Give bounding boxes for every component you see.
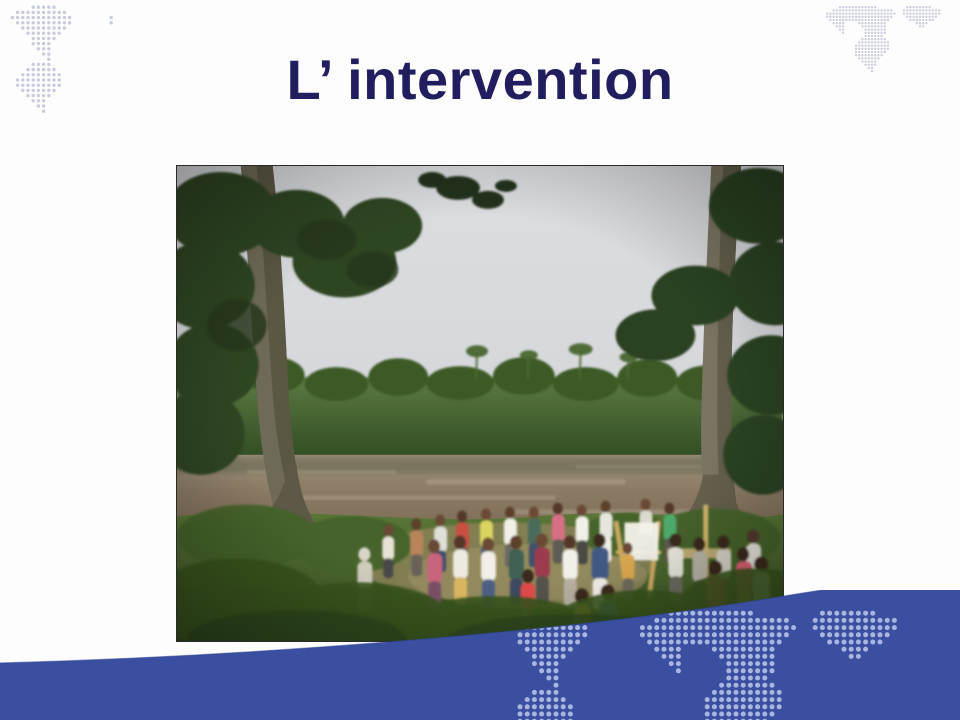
title-container: L’ intervention — [0, 48, 960, 112]
page-title: L’ intervention — [286, 48, 673, 112]
slide: L’ intervention — [0, 0, 960, 720]
slide-photo — [176, 165, 784, 642]
